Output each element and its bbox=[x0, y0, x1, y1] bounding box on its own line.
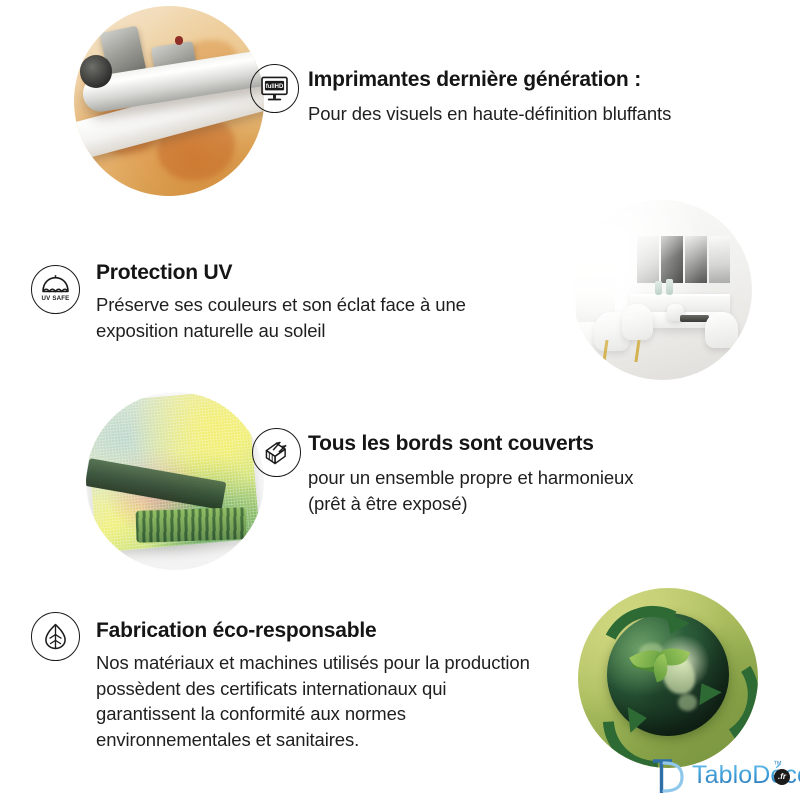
roller-indicator-dot bbox=[175, 36, 184, 45]
svg-text:fullHD: fullHD bbox=[266, 84, 284, 90]
photo-background bbox=[578, 588, 758, 768]
feature-body-line: Préserve ses couleurs et son éclat face … bbox=[96, 292, 466, 318]
feature-body-uv: Préserve ses couleurs et son éclat face … bbox=[96, 292, 466, 343]
tablodeco-d-monogram-icon bbox=[648, 757, 688, 797]
feature-body-line: pour un ensemble propre et harmonieux bbox=[308, 465, 633, 491]
fullhd-monitor-icon: fullHD bbox=[250, 64, 299, 113]
brand-logo[interactable]: TabloDéco ™ .fr bbox=[648, 757, 794, 797]
roller-hub bbox=[80, 55, 112, 87]
feature-body-printers: Pour des visuels en haute-définition blu… bbox=[308, 101, 671, 127]
feature-body-line: Pour des visuels en haute-définition blu… bbox=[308, 101, 671, 127]
feature-title-edges: Tous les bords sont couverts bbox=[308, 431, 594, 457]
feature-title-printers: Imprimantes dernière génération : bbox=[308, 67, 641, 93]
photo-background bbox=[86, 392, 264, 570]
infographic-canvas: fullHD Imprimantes dernière génération :… bbox=[0, 0, 800, 800]
printer-roller-world-map-photo bbox=[74, 6, 264, 196]
feature-body-line: possèdent des certificats internationaux… bbox=[96, 676, 530, 702]
uv-safe-umbrella-icon: UV SAFE bbox=[31, 265, 80, 314]
recycling-arrow-head bbox=[627, 706, 648, 734]
bright-dining-room-canvas-photo bbox=[572, 200, 752, 380]
feature-title-uv: Protection UV bbox=[96, 260, 232, 286]
colorful-canvas-corner-photo bbox=[86, 392, 264, 570]
svg-text:UV SAFE: UV SAFE bbox=[42, 295, 70, 302]
feature-body-eco: Nos matériaux et machines utilisés pour … bbox=[96, 650, 530, 752]
feature-body-line: (prêt à être exposé) bbox=[308, 491, 633, 517]
photo-background bbox=[74, 6, 264, 196]
leaf-icon bbox=[31, 612, 80, 661]
domain-badge: .fr bbox=[774, 769, 790, 785]
feature-body-line: environnementales et sanitaires. bbox=[96, 727, 530, 753]
feature-body-line: Nos matériaux et machines utilisés pour … bbox=[96, 650, 530, 676]
feature-body-edges: pour un ensemble propre et harmonieux (p… bbox=[308, 465, 633, 516]
wrapped-canvas-edges-icon bbox=[252, 428, 301, 477]
daylight-glow bbox=[572, 200, 752, 380]
trademark-symbol: ™ bbox=[773, 759, 782, 769]
feature-body-line: exposition naturelle au soleil bbox=[96, 318, 466, 344]
feature-body-line: garantissent la conformité aux normes bbox=[96, 701, 530, 727]
canvas-wrapped-edge bbox=[135, 508, 246, 544]
eco-recycling-globe-photo bbox=[578, 588, 758, 768]
photo-background bbox=[572, 200, 752, 380]
feature-title-eco: Fabrication éco-responsable bbox=[96, 618, 377, 644]
